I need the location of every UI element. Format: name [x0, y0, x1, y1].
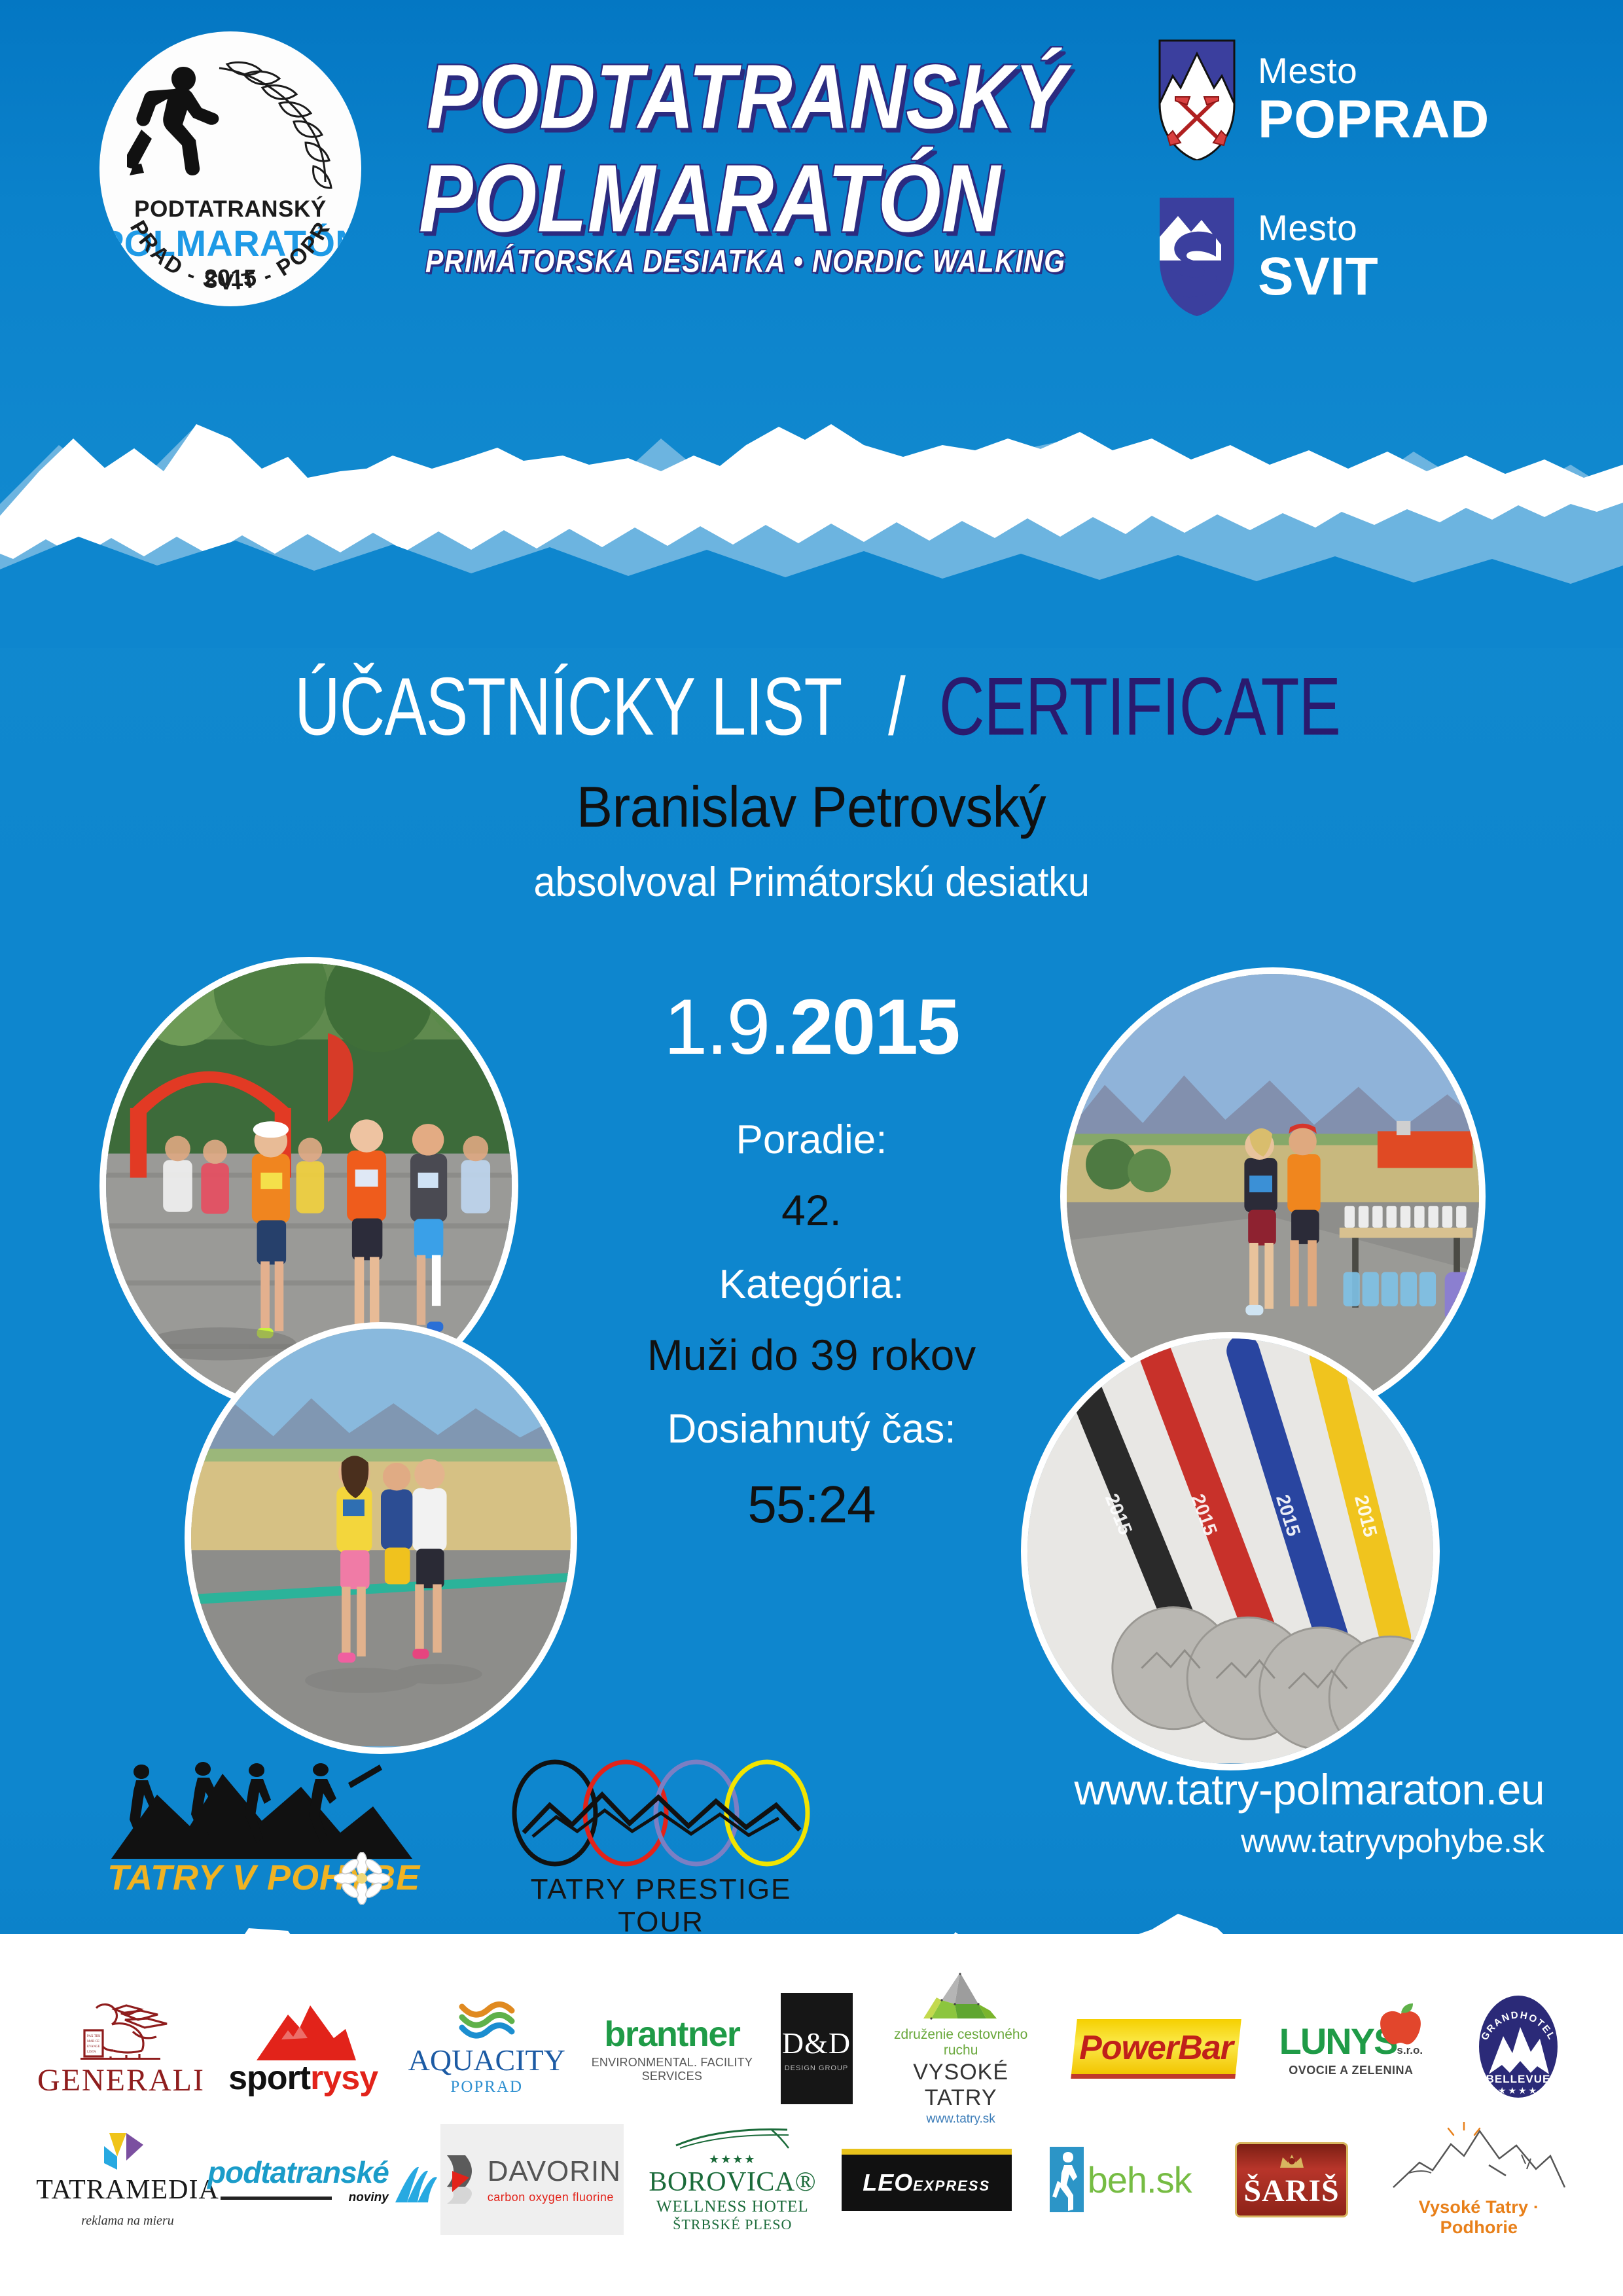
sponsor-logos: PAX TIBIMAR CE EVANGELISTA GENERALI spor…	[0, 1983, 1623, 2245]
sponsor-davorin-label: DAVORIN	[488, 2155, 621, 2188]
svg-text:POPRAD - SVIT - POPRAD: POPRAD - SVIT - POPRAD	[99, 31, 336, 295]
rank-value: 42.	[484, 1185, 1139, 1235]
sponsor-davorin-wrapper: DAVORIN carbon oxygen fluorine	[440, 2124, 624, 2235]
davorin-mark-icon	[443, 2151, 480, 2208]
badge-arc-text: POPRAD - SVIT - POPRAD	[99, 31, 361, 306]
city-prefix-poprad: Mesto	[1258, 53, 1489, 89]
sponsor-leo-label: LEO	[863, 2169, 913, 2196]
sponsor-generali-label: GENERALI	[37, 2062, 205, 2098]
sponsor-tatramedia: TATRAMEDIA reklama na mieru	[46, 2124, 209, 2235]
tatramedia-triangles-icon	[98, 2130, 158, 2171]
sponsor-dd-sub: DESIGN GROUP	[785, 2064, 849, 2072]
photo-field-runners	[185, 1322, 577, 1754]
sponsor-grandhotel-bellevue: GRANDHOTEL BELLEVUE ★★★★	[1459, 1993, 1577, 2104]
website-primary-link[interactable]: www.tatry-polmaraton.eu	[1001, 1765, 1544, 1814]
city-name-svit: SVIT	[1258, 250, 1378, 304]
photo-medals: 2015 2015 2015 2015	[1021, 1332, 1440, 1770]
lunys-apple-icon	[1378, 2003, 1423, 2045]
svg-text:EVANGE: EVANGE	[87, 2045, 100, 2049]
certificate-title-sk: ÚČASTNÍCKY LIST	[294, 659, 842, 753]
sponsor-vysoke-tatry: združenie cestovného ruchu VYSOKÉ TATRY …	[879, 1993, 1043, 2104]
sponsor-dd: D&D DESIGN GROUP	[781, 1993, 853, 2104]
svg-text:LISTA: LISTA	[87, 2051, 96, 2054]
sponsor-davorin-sub: carbon oxygen fluorine	[488, 2191, 621, 2204]
city-partner-poprad: Mesto POPRAD	[1158, 39, 1489, 160]
svit-crest-icon	[1158, 196, 1236, 317]
tatry-v-pohybe-logo: TATRY V POHYBE	[105, 1761, 471, 1911]
sponsor-dd-wrapper: D&D DESIGN GROUP	[781, 1993, 853, 2104]
sponsor-generali: PAX TIBIMAR CE EVANGELISTA GENERALI	[46, 1993, 196, 2104]
sponsor-saris: ŠARIŠ	[1230, 2124, 1354, 2235]
sponsor-vysoke-tatry-sub1: združenie cestovného ruchu	[879, 2027, 1043, 2058]
certificate-title: ÚČASTNÍCKY LIST / CERTIFICATE	[0, 664, 1623, 749]
sponsor-sportrysy-label-b: rysy	[310, 2059, 378, 2097]
wordmark-line-3: PRIMÁTORSKA DESIATKA • NORDIC WALKING	[425, 243, 1066, 279]
sponsor-borovica-stars: ★★★★	[649, 2153, 816, 2166]
city-partner-svit: Mesto SVIT	[1158, 196, 1378, 317]
podtatranske-fan-icon	[393, 2164, 442, 2205]
athlete-name: Branislav Petrovský	[0, 774, 1623, 840]
sponsor-vysoke-tatry-podhorie: Vysoké Tatry · Podhorie	[1381, 2124, 1577, 2235]
edelweiss-icon	[334, 1852, 390, 1905]
website-secondary-link[interactable]: www.tatryvpohybe.sk	[1001, 1822, 1544, 1860]
svg-text:★★★★: ★★★★	[1498, 2085, 1539, 2096]
category-label: Kategória:	[484, 1261, 1139, 1308]
sponsor-brantner-label: brantner	[590, 2014, 754, 2054]
sponsor-dd-label: D&D	[782, 2026, 851, 2060]
sponsor-leo-express-wrapper: LEOEXPRESS	[842, 2124, 1012, 2235]
sponsor-davorin: DAVORIN carbon oxygen fluorine	[440, 2124, 624, 2235]
event-date: 1.9.2015	[484, 982, 1139, 1072]
sponsor-lunys: LUNYSs.r.o. OVOCIE A ZELENINA	[1269, 1993, 1433, 2104]
wordmark-line-2: POLMARATÓN	[419, 144, 1001, 254]
sponsor-powerbar: PowerBar	[1069, 1993, 1243, 2104]
sponsor-tatramedia-sub: reklama na mieru	[36, 2214, 219, 2229]
sponsor-aquacity-label: AQUACITY	[408, 2043, 565, 2077]
sponsor-sportrysy: sportrysy	[223, 1993, 383, 2104]
sponsor-borovica-sub2: ŠTRBSKÉ PLESO	[649, 2216, 816, 2233]
event-wordmark: PODTATRANSKÝ POLMARATÓN PRIMÁTORSKA DESI…	[419, 39, 1113, 314]
sponsor-lunys-sro: s.r.o.	[1397, 2044, 1423, 2056]
sponsor-brantner: brantner ENVIRONMENTAL. FACILITY SERVICE…	[590, 1993, 754, 2104]
grandhotel-bellevue-badge-icon: GRANDHOTEL BELLEVUE ★★★★	[1469, 1993, 1567, 2104]
event-date-year: 2015	[790, 983, 959, 1071]
sponsor-powerbar-label: PowerBar	[1079, 2028, 1233, 2068]
event-badge-logo: PODTATRANSKÝ POLMARATÓN 2015 POPRAD - SV…	[99, 31, 361, 306]
sponsor-borovica: ★★★★ BOROVICA® WELLNESS HOTEL ŠTRBSKÉ PL…	[651, 2124, 814, 2235]
sponsor-leo-sub: EXPRESS	[913, 2178, 990, 2194]
sponsor-podtatranske-noviny: podtatranské noviny	[236, 2124, 413, 2235]
partner-brand-row: TATRY V POHYBE	[105, 1761, 1544, 1911]
mountain-band-graphic	[0, 340, 1623, 648]
sponsor-podtatranske-label: podtatranské	[207, 2155, 389, 2190]
behsk-runner-icon	[1050, 2147, 1084, 2212]
vysoke-tatry-polygon-mountain-icon	[918, 1971, 1003, 2022]
athlete-name-text: Branislav Petrovský	[577, 774, 1046, 840]
website-links: www.tatry-polmaraton.eu www.tatryvpohybe…	[1001, 1765, 1544, 1860]
podtatranske-rule	[221, 2197, 332, 2200]
photo-field-runners-image	[191, 1329, 571, 1746]
aquacity-wave-icon	[458, 2001, 516, 2039]
sponsor-borovica-label: BOROVICA®	[649, 2166, 816, 2198]
sponsor-behsk-label: beh.sk	[1088, 2159, 1192, 2201]
city-name-poprad: POPRAD	[1258, 93, 1489, 147]
certificate-subtitle-text: absolvoval Primátorskú desiatku	[533, 859, 1089, 906]
photo-medals-image: 2015 2015 2015 2015	[1027, 1338, 1433, 1763]
rank-label: Poradie:	[484, 1117, 1139, 1163]
sponsor-aquacity: AQUACITY POPRAD	[410, 1993, 563, 2104]
svg-text:MAR CE: MAR CE	[87, 2040, 99, 2043]
tatry-prestige-tour-logo: TATRY PRESTIGE TOUR	[504, 1754, 844, 1918]
sponsor-podtatranske-sub: noviny	[349, 2191, 389, 2205]
certificate-title-separator: /	[888, 659, 905, 753]
borovica-branch-icon	[673, 2126, 791, 2149]
vysoke-tatry-podhorie-outline-icon	[1391, 2122, 1567, 2194]
tatry-prestige-tour-rings-icon	[504, 1754, 818, 1872]
sponsor-vysoke-tatry-podhorie-label: Vysoké Tatry · Podhorie	[1381, 2197, 1577, 2238]
poprad-crest-icon	[1158, 39, 1236, 160]
wordmark-line-1: PODTATRANSKÝ	[427, 45, 1067, 149]
svg-text:PAX TIBI: PAX TIBI	[87, 2035, 101, 2038]
saris-crown-icon	[1277, 2153, 1306, 2170]
sportrysy-peak-icon	[247, 2000, 359, 2060]
sponsor-vysoke-tatry-label: VYSOKÉ TATRY	[879, 2060, 1043, 2111]
sponsor-leo-express: LEOEXPRESS	[842, 2149, 1012, 2211]
sponsor-sportrysy-label-a: sport	[228, 2059, 310, 2097]
tatry-v-pohybe-mountain-icon	[105, 1761, 471, 1872]
generali-lion-icon: PAX TIBIMAR CE EVANGELISTA	[69, 1999, 173, 2061]
city-prefix-svit: Mesto	[1258, 210, 1378, 246]
sponsor-behsk: beh.sk	[1039, 2124, 1202, 2235]
certificate-title-en: CERTIFICATE	[939, 659, 1340, 753]
sponsor-borovica-sub1: WELLNESS HOTEL	[649, 2198, 816, 2216]
event-date-daymonth: 1.9.	[664, 983, 789, 1071]
sponsor-saris-label: ŠARIŠ	[1243, 2173, 1339, 2209]
sponsor-aquacity-sub: POPRAD	[408, 2078, 565, 2096]
sponsor-tatramedia-label: TATRAMEDIA	[36, 2174, 219, 2206]
poster-header: PODTATRANSKÝ POLMARATÓN 2015 POPRAD - SV…	[0, 0, 1623, 367]
sponsor-row-2: TATRAMEDIA reklama na mieru podtatranské…	[0, 2114, 1623, 2245]
sponsor-row-1: PAX TIBIMAR CE EVANGELISTA GENERALI spor…	[0, 1983, 1623, 2114]
sponsor-lunys-sub: OVOCIE A ZELENINA	[1279, 2064, 1423, 2077]
certificate-subtitle: absolvoval Primátorskú desiatku	[0, 859, 1623, 906]
certificate-poster: PODTATRANSKÝ POLMARATÓN 2015 POPRAD - SV…	[0, 0, 1623, 2296]
sponsor-brantner-sub: ENVIRONMENTAL. FACILITY SERVICES	[590, 2056, 754, 2083]
svg-text:BELLEVUE: BELLEVUE	[1486, 2073, 1551, 2085]
